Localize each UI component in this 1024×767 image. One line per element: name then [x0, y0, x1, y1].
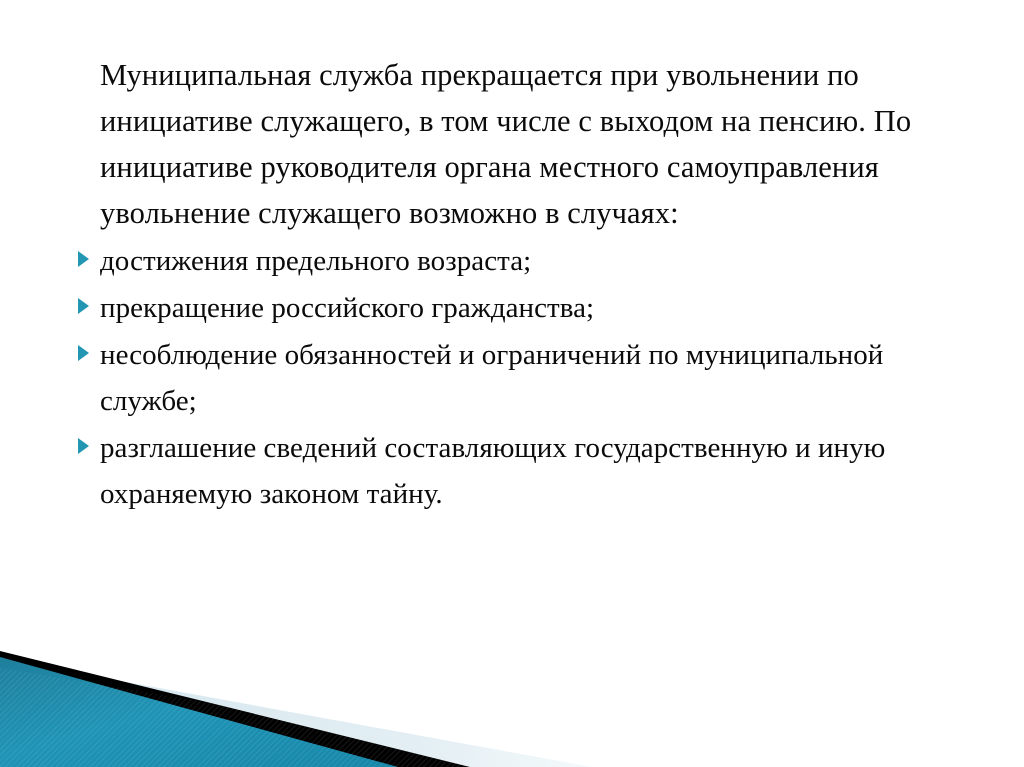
teal-wedge [0, 657, 398, 767]
list-item-label: достижения предельного возраста; [100, 245, 531, 277]
triangle-right-icon [78, 298, 89, 314]
bottom-left-diagonal-band [0, 607, 1024, 767]
light-blue-wedge [0, 659, 592, 767]
list-item: достижения предельного возраста; [66, 238, 946, 284]
slide-content-body: Муниципальная служба прекращается при ув… [66, 52, 946, 518]
list-item-label: прекращение российского гражданства; [100, 292, 594, 324]
list-item: разглашение сведений составляющих госуда… [66, 425, 946, 517]
list-item: несоблюдение обязанностей и ограничений … [66, 332, 946, 424]
bullet-list: достижения предельного возраста; прекращ… [66, 238, 946, 517]
slide-canvas: Муниципальная служба прекращается при ув… [0, 0, 1024, 767]
list-item: прекращение российского гражданства; [66, 285, 946, 331]
triangle-right-icon [78, 438, 89, 454]
list-item-label: разглашение сведений составляющих госуда… [100, 432, 885, 510]
triangle-right-icon [78, 251, 89, 267]
intro-paragraph: Муниципальная служба прекращается при ув… [66, 52, 946, 236]
triangle-right-icon [78, 345, 89, 361]
black-diagonal-band [0, 651, 470, 767]
teal-wedge-texture [0, 607, 1024, 767]
list-item-label: несоблюдение обязанностей и ограничений … [100, 339, 883, 417]
